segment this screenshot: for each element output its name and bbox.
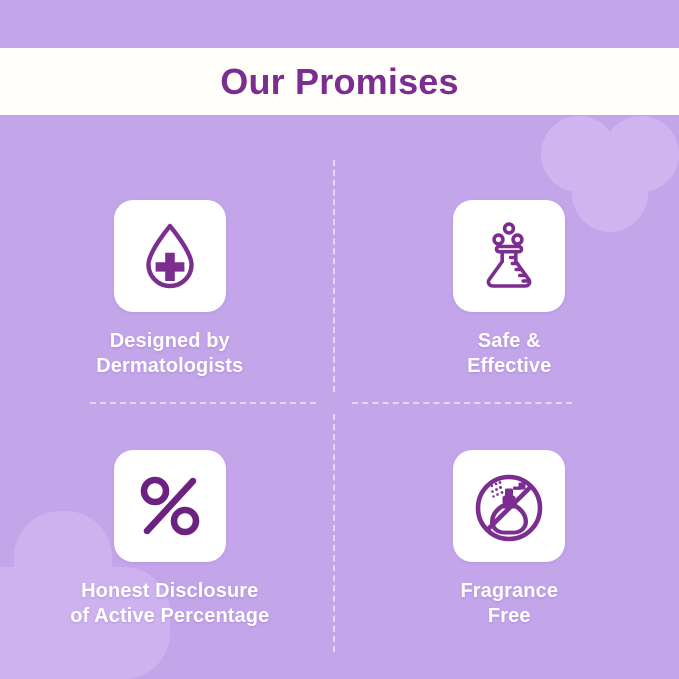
promise-label: Honest Disclosure of Active Percentage — [70, 579, 269, 629]
promise-label: Fragrance Free — [460, 579, 558, 629]
promise-label: Safe & Effective — [467, 329, 551, 379]
percent-icon — [135, 471, 205, 541]
icon-card-percent — [114, 450, 226, 562]
promise-label: Designed by Dermatologists — [96, 329, 243, 379]
droplet-plus-icon — [133, 219, 207, 293]
promise-item-designed-by-dermatologists: Designed by Dermatologists — [0, 148, 340, 408]
promise-item-safe-and-effective: Safe & Effective — [340, 148, 679, 408]
icon-card-droplet-plus — [114, 200, 226, 312]
header-band: Our Promises — [0, 48, 679, 115]
page-title: Our Promises — [220, 64, 459, 100]
promise-item-fragrance-free: Fragrance Free — [340, 408, 679, 668]
no-fragrance-icon — [471, 468, 547, 544]
promise-item-honest-disclosure: Honest Disclosure of Active Percentage — [0, 408, 340, 668]
flask-icon — [472, 219, 546, 293]
icon-card-no-fragrance — [453, 450, 565, 562]
promise-grid: Designed by Dermatologists — [0, 148, 679, 668]
our-promises-panel: Our Promises Designed by Dermatologists — [0, 0, 679, 679]
icon-card-flask — [453, 200, 565, 312]
